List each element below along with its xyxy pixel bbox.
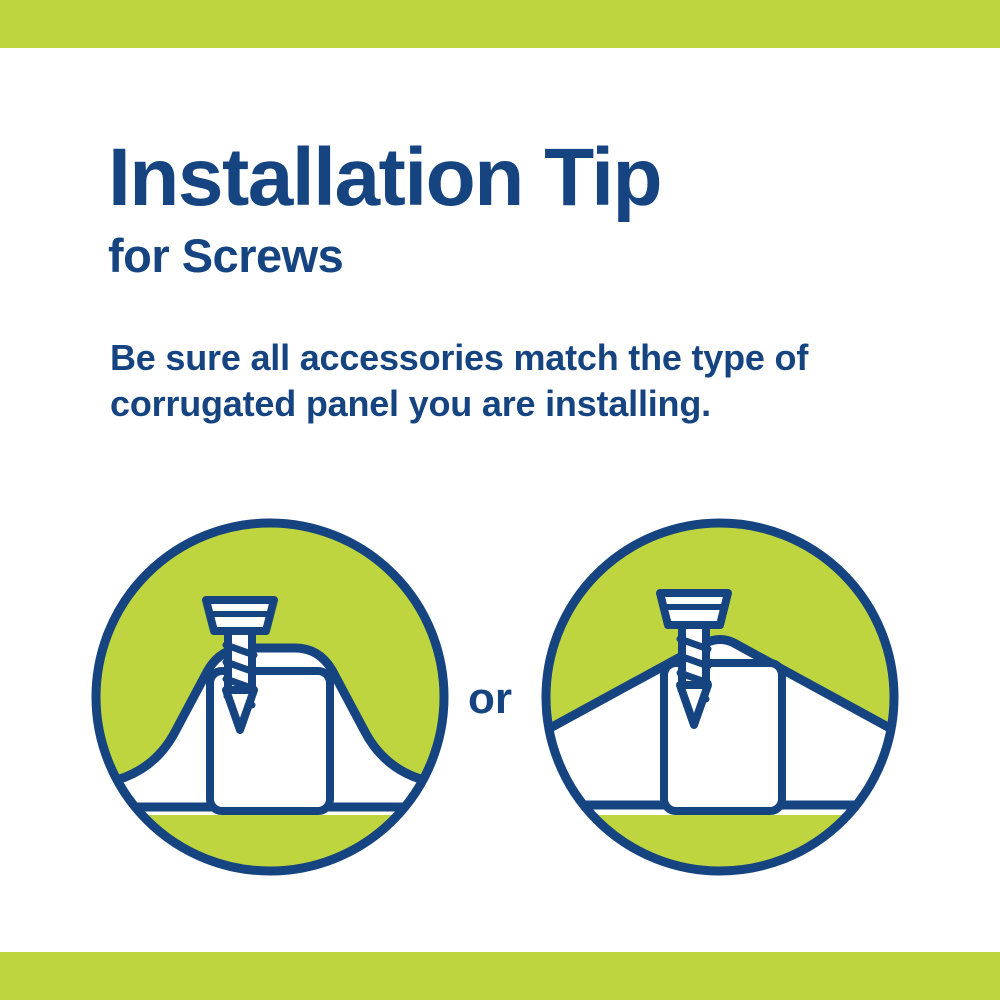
or-separator-label: or (452, 677, 528, 721)
illustration-left-trapezoid-panel (88, 515, 452, 879)
installation-tip-infographic: Installation Tip for Screws Be sure all … (0, 0, 1000, 1000)
page-subtitle: for Screws (108, 232, 928, 279)
body-paragraph: Be sure all accessories match the type o… (110, 335, 900, 426)
illustration-row: or (0, 515, 1000, 885)
text-block: Installation Tip for Screws Be sure all … (108, 138, 928, 426)
illustration-right-peaked-panel (538, 515, 902, 879)
bottom-green-band (0, 952, 1000, 1000)
page-title: Installation Tip (108, 138, 928, 218)
top-green-band (0, 0, 1000, 48)
